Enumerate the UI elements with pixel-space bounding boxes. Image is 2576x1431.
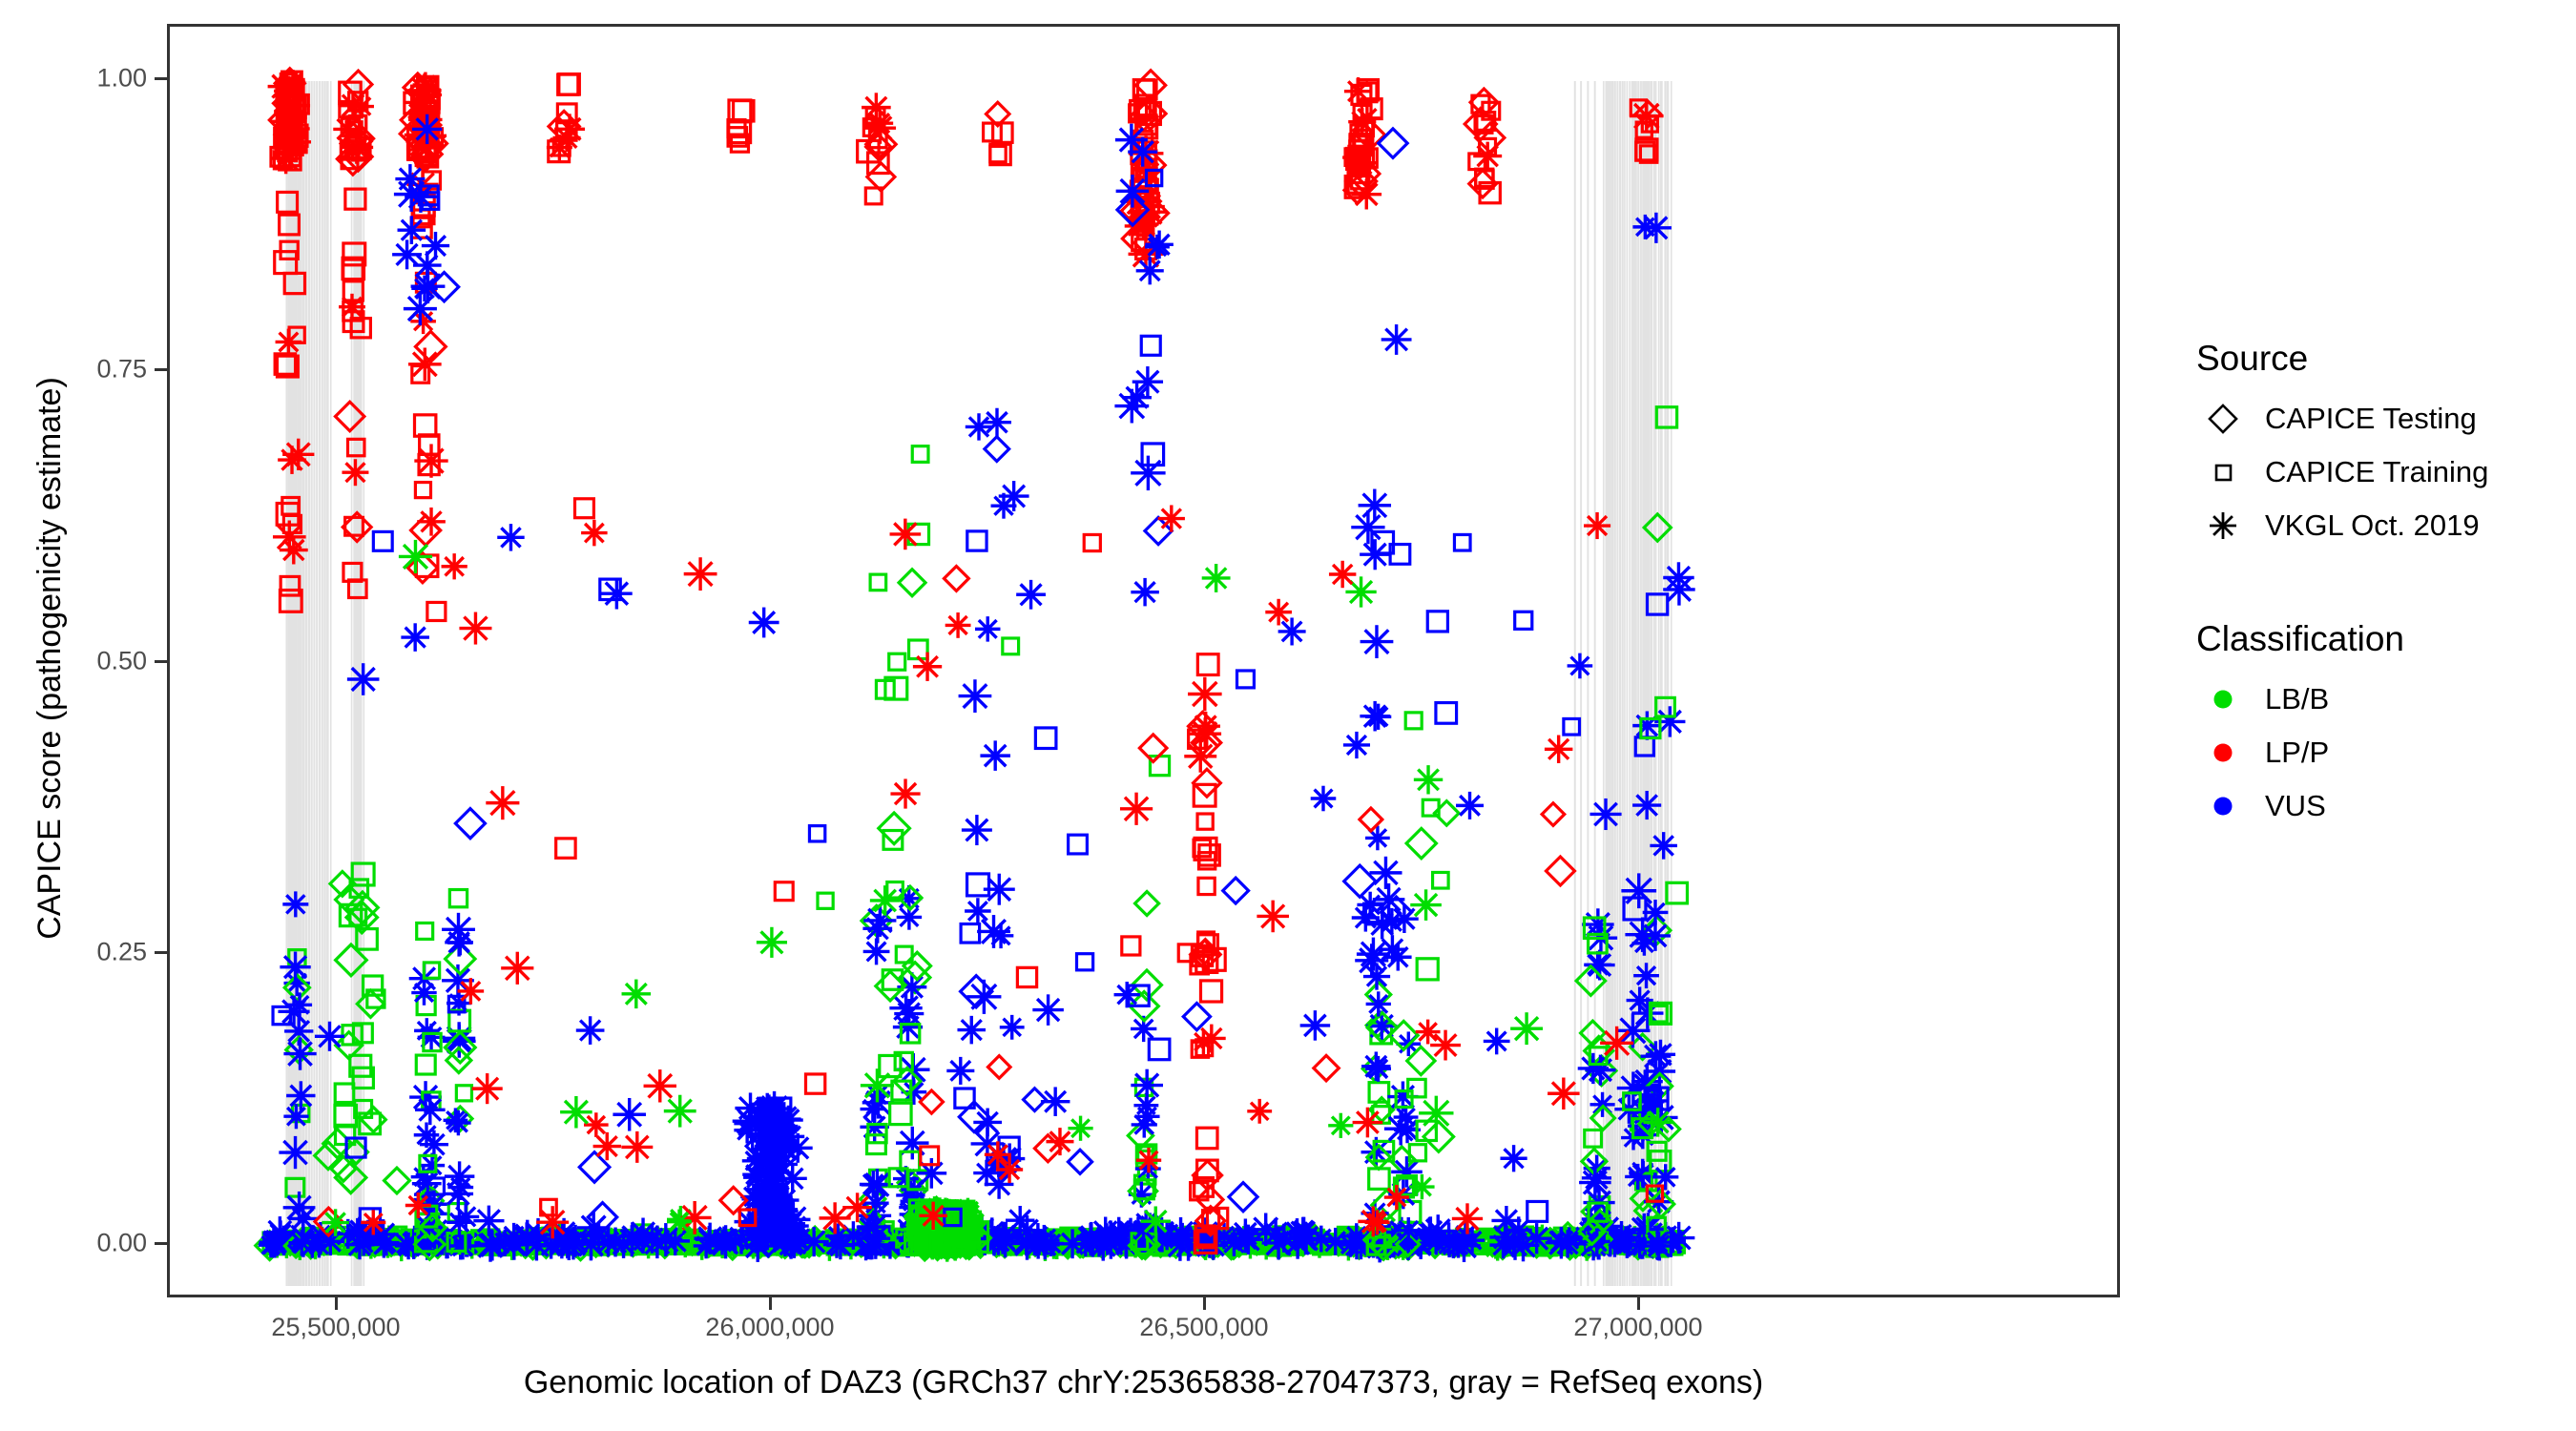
x-tick-mark bbox=[1203, 1297, 1206, 1310]
legend-title-classification: Classification bbox=[2196, 619, 2557, 659]
y-tick-mark bbox=[155, 1242, 167, 1245]
legend-label: LP/P bbox=[2252, 736, 2329, 770]
dot-icon bbox=[2194, 726, 2252, 779]
y-tick-label: 0.00 bbox=[0, 1231, 147, 1256]
y-tick-label: 0.25 bbox=[0, 940, 147, 965]
diamond-icon bbox=[2194, 392, 2252, 446]
legend-label: CAPICE Testing bbox=[2252, 402, 2477, 436]
x-tick-label: 25,500,000 bbox=[193, 1315, 479, 1340]
x-tick-mark bbox=[769, 1297, 772, 1310]
y-tick-mark bbox=[155, 77, 167, 80]
x-tick-mark bbox=[335, 1297, 338, 1310]
square-icon bbox=[2194, 446, 2252, 499]
legend-label: VKGL Oct. 2019 bbox=[2252, 508, 2480, 543]
scatter-canvas bbox=[170, 27, 2117, 1295]
y-tick-label: 0.75 bbox=[0, 357, 147, 383]
y-tick-mark bbox=[155, 951, 167, 954]
capice-scatter-figure: CAPICE score (pathogenicity estimate) 1.… bbox=[0, 0, 2576, 1431]
x-axis-title: Genomic location of DAZ3 (GRCh37 chrY:25… bbox=[167, 1364, 2120, 1401]
x-tick-label: 26,000,000 bbox=[627, 1315, 913, 1340]
x-tick-label: 26,500,000 bbox=[1061, 1315, 1347, 1340]
legend-item-lpp[interactable]: LP/P bbox=[2194, 726, 2557, 779]
y-tick-label: 0.50 bbox=[0, 649, 147, 674]
y-tick-label: 1.00 bbox=[0, 66, 147, 92]
x-tick-label: 27,000,000 bbox=[1495, 1315, 1781, 1340]
legend-label: CAPICE Training bbox=[2252, 455, 2488, 489]
dot-icon bbox=[2194, 673, 2252, 726]
y-tick-mark bbox=[155, 660, 167, 663]
plot-panel bbox=[167, 24, 2120, 1297]
legend-label: LB/B bbox=[2252, 682, 2329, 716]
y-tick-mark bbox=[155, 368, 167, 371]
legend-spacer bbox=[2194, 552, 2557, 619]
x-tick-mark bbox=[1637, 1297, 1640, 1310]
legend-title-source: Source bbox=[2196, 339, 2557, 379]
legend-item-vkgl[interactable]: VKGL Oct. 2019 bbox=[2194, 499, 2557, 552]
legend-item-capice-training[interactable]: CAPICE Training bbox=[2194, 446, 2557, 499]
asterisk-icon bbox=[2194, 499, 2252, 552]
dot-icon bbox=[2194, 779, 2252, 833]
legend-label: VUS bbox=[2252, 789, 2326, 823]
legend-item-vus[interactable]: VUS bbox=[2194, 779, 2557, 833]
legend-item-capice-testing[interactable]: CAPICE Testing bbox=[2194, 392, 2557, 446]
legend-item-lbb[interactable]: LB/B bbox=[2194, 673, 2557, 726]
legend: Source CAPICE Testing CAPICE Training bbox=[2194, 339, 2557, 833]
